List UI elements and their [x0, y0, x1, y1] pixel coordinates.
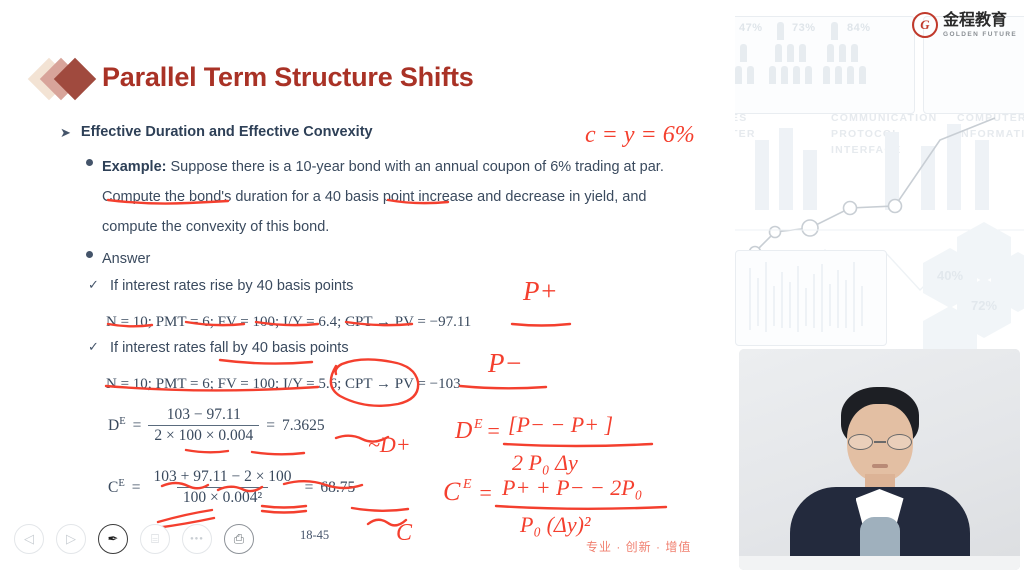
- convexity-result: 68.75: [320, 479, 355, 497]
- convexity-fraction: 103 + 97.11 − 2 × 100 100 × 0.004²: [148, 468, 298, 507]
- example-bullet: Example: Suppose there is a 10-year bond…: [86, 152, 706, 242]
- page-number: 18-45: [300, 528, 329, 543]
- convexity-equals-1: =: [132, 479, 141, 497]
- dot-bullet-icon: [86, 251, 93, 258]
- duration-numerator: 103 − 97.11: [161, 406, 247, 425]
- effective-duration-formula: DE = 103 − 97.11 2 × 100 × 0.004 = 7.362…: [108, 406, 325, 445]
- webcam-video-panel[interactable]: [739, 349, 1020, 570]
- brand-logo: G 金程教育 GOLDEN FUTURE: [912, 12, 1017, 38]
- example-text: Suppose there is a 10-year bond with an …: [102, 159, 664, 235]
- ink-c-tilde: C: [396, 520, 413, 546]
- rates-fall-bullet: ✓ If interest rates fall by 40 basis poi…: [88, 337, 349, 359]
- webcam-face: [847, 404, 913, 482]
- webcam-mouth: [872, 464, 888, 468]
- convexity-denominator: 100 × 0.004²: [177, 487, 268, 507]
- duration-lhs: DE: [108, 416, 126, 435]
- next-slide-icon: ▷: [66, 531, 76, 547]
- duration-equals-1: =: [133, 417, 142, 435]
- slide-title-row: Parallel Term Structure Shifts: [34, 62, 474, 93]
- prev-slide-icon: ◁: [24, 531, 34, 547]
- more-dots-icon: ●●●: [190, 536, 204, 542]
- ink-p-plus: P+: [522, 276, 558, 306]
- glasses-left-icon: [848, 434, 873, 450]
- convexity-numerator: 103 + 97.11 − 2 × 100: [148, 468, 298, 487]
- rates-fall-equation: N = 10; PMT = 6; FV = 100; I/Y = 5.6; CP…: [106, 370, 461, 398]
- duration-equals-2: =: [266, 417, 275, 435]
- whiteboard-icon: ⌸: [151, 531, 159, 547]
- pen-tool-button[interactable]: ✒: [98, 524, 128, 554]
- answer-bullet: Answer: [86, 244, 150, 274]
- logo-seal-icon: G: [912, 12, 938, 38]
- webcam-desk: [739, 556, 1020, 570]
- rates-rise-label: If interest rates rise by 40 basis point…: [110, 275, 353, 297]
- presentation-slide: 47% 73% 84% ES TER COMMUNICATION PROTOCO…: [0, 0, 1024, 576]
- duration-denominator: 2 × 100 × 0.004: [148, 425, 259, 445]
- logo-english-name: GOLDEN FUTURE: [943, 31, 1017, 38]
- ink-duration-denominator: 2 P₀ Δy: [512, 450, 578, 475]
- presenter-toolbar[interactable]: ◁ ▷ ✒ ⌸ ●●● ⎙: [14, 524, 254, 554]
- screen-share-button[interactable]: ⎙: [224, 524, 254, 554]
- ink-d-tilde: ~D+: [368, 432, 411, 457]
- dot-bullet-icon: [86, 159, 93, 166]
- section-heading: Effective Duration and Effective Convexi…: [81, 124, 373, 140]
- glasses-right-icon: [887, 434, 912, 450]
- pen-icon: ✒: [108, 531, 119, 547]
- convexity-equals-2: =: [305, 479, 314, 497]
- ink-convexity-lhs: C: [443, 477, 461, 506]
- arrow-bullet-icon: ➤: [60, 124, 71, 142]
- decorative-background: 47% 73% 84% ES TER COMMUNICATION PROTOCO…: [735, 0, 1024, 352]
- ink-duration-sup: E: [473, 417, 483, 432]
- ink-convexity-denominator: P₀ (Δy)²: [519, 512, 591, 537]
- section-heading-row: ➤ Effective Duration and Effective Conve…: [60, 124, 373, 142]
- logo-chinese-name: 金程教育: [943, 13, 1017, 29]
- slide-title: Parallel Term Structure Shifts: [102, 62, 474, 93]
- rates-rise-bullet: ✓ If interest rates rise by 40 basis poi…: [88, 275, 353, 297]
- prev-slide-button[interactable]: ◁: [14, 524, 44, 554]
- more-options-button[interactable]: ●●●: [182, 524, 212, 554]
- effective-convexity-formula: CE = 103 + 97.11 − 2 × 100 100 × 0.004² …: [108, 468, 355, 507]
- duration-fraction: 103 − 97.11 2 × 100 × 0.004: [148, 406, 259, 445]
- rates-fall-label: If interest rates fall by 40 basis point…: [110, 337, 349, 359]
- screen-share-icon: ⎙: [234, 531, 244, 547]
- example-paragraph: Example: Suppose there is a 10-year bond…: [102, 152, 702, 242]
- check-bullet-icon: ✓: [88, 337, 101, 356]
- answer-label: Answer: [102, 244, 150, 274]
- next-slide-button[interactable]: ▷: [56, 524, 86, 554]
- ink-duration-lhs: D: [454, 418, 472, 444]
- whiteboard-button[interactable]: ⌸: [140, 524, 170, 554]
- glasses-bridge: [874, 441, 886, 443]
- watermark: 专业 · 创新 · 增值: [586, 538, 691, 555]
- check-bullet-icon: ✓: [88, 275, 101, 294]
- rates-rise-equation: N = 10; PMT = 6; FV = 100; I/Y = 6.4; CP…: [106, 308, 471, 336]
- example-label: Example:: [102, 159, 166, 175]
- ink-p-minus: P−: [487, 348, 523, 378]
- ink-duration-numerator: [P− − P+ ]: [508, 412, 613, 437]
- ink-convexity-numerator: P+ + P− − 2P₀: [501, 475, 642, 500]
- ink-top-note: c = y = 6%: [585, 122, 695, 148]
- duration-result: 7.3625: [282, 417, 325, 435]
- ink-convexity-eq: =: [478, 480, 493, 505]
- convexity-lhs: CE: [108, 478, 125, 497]
- ink-duration-eq: =: [486, 418, 501, 443]
- ink-convexity-sup: E: [462, 477, 472, 492]
